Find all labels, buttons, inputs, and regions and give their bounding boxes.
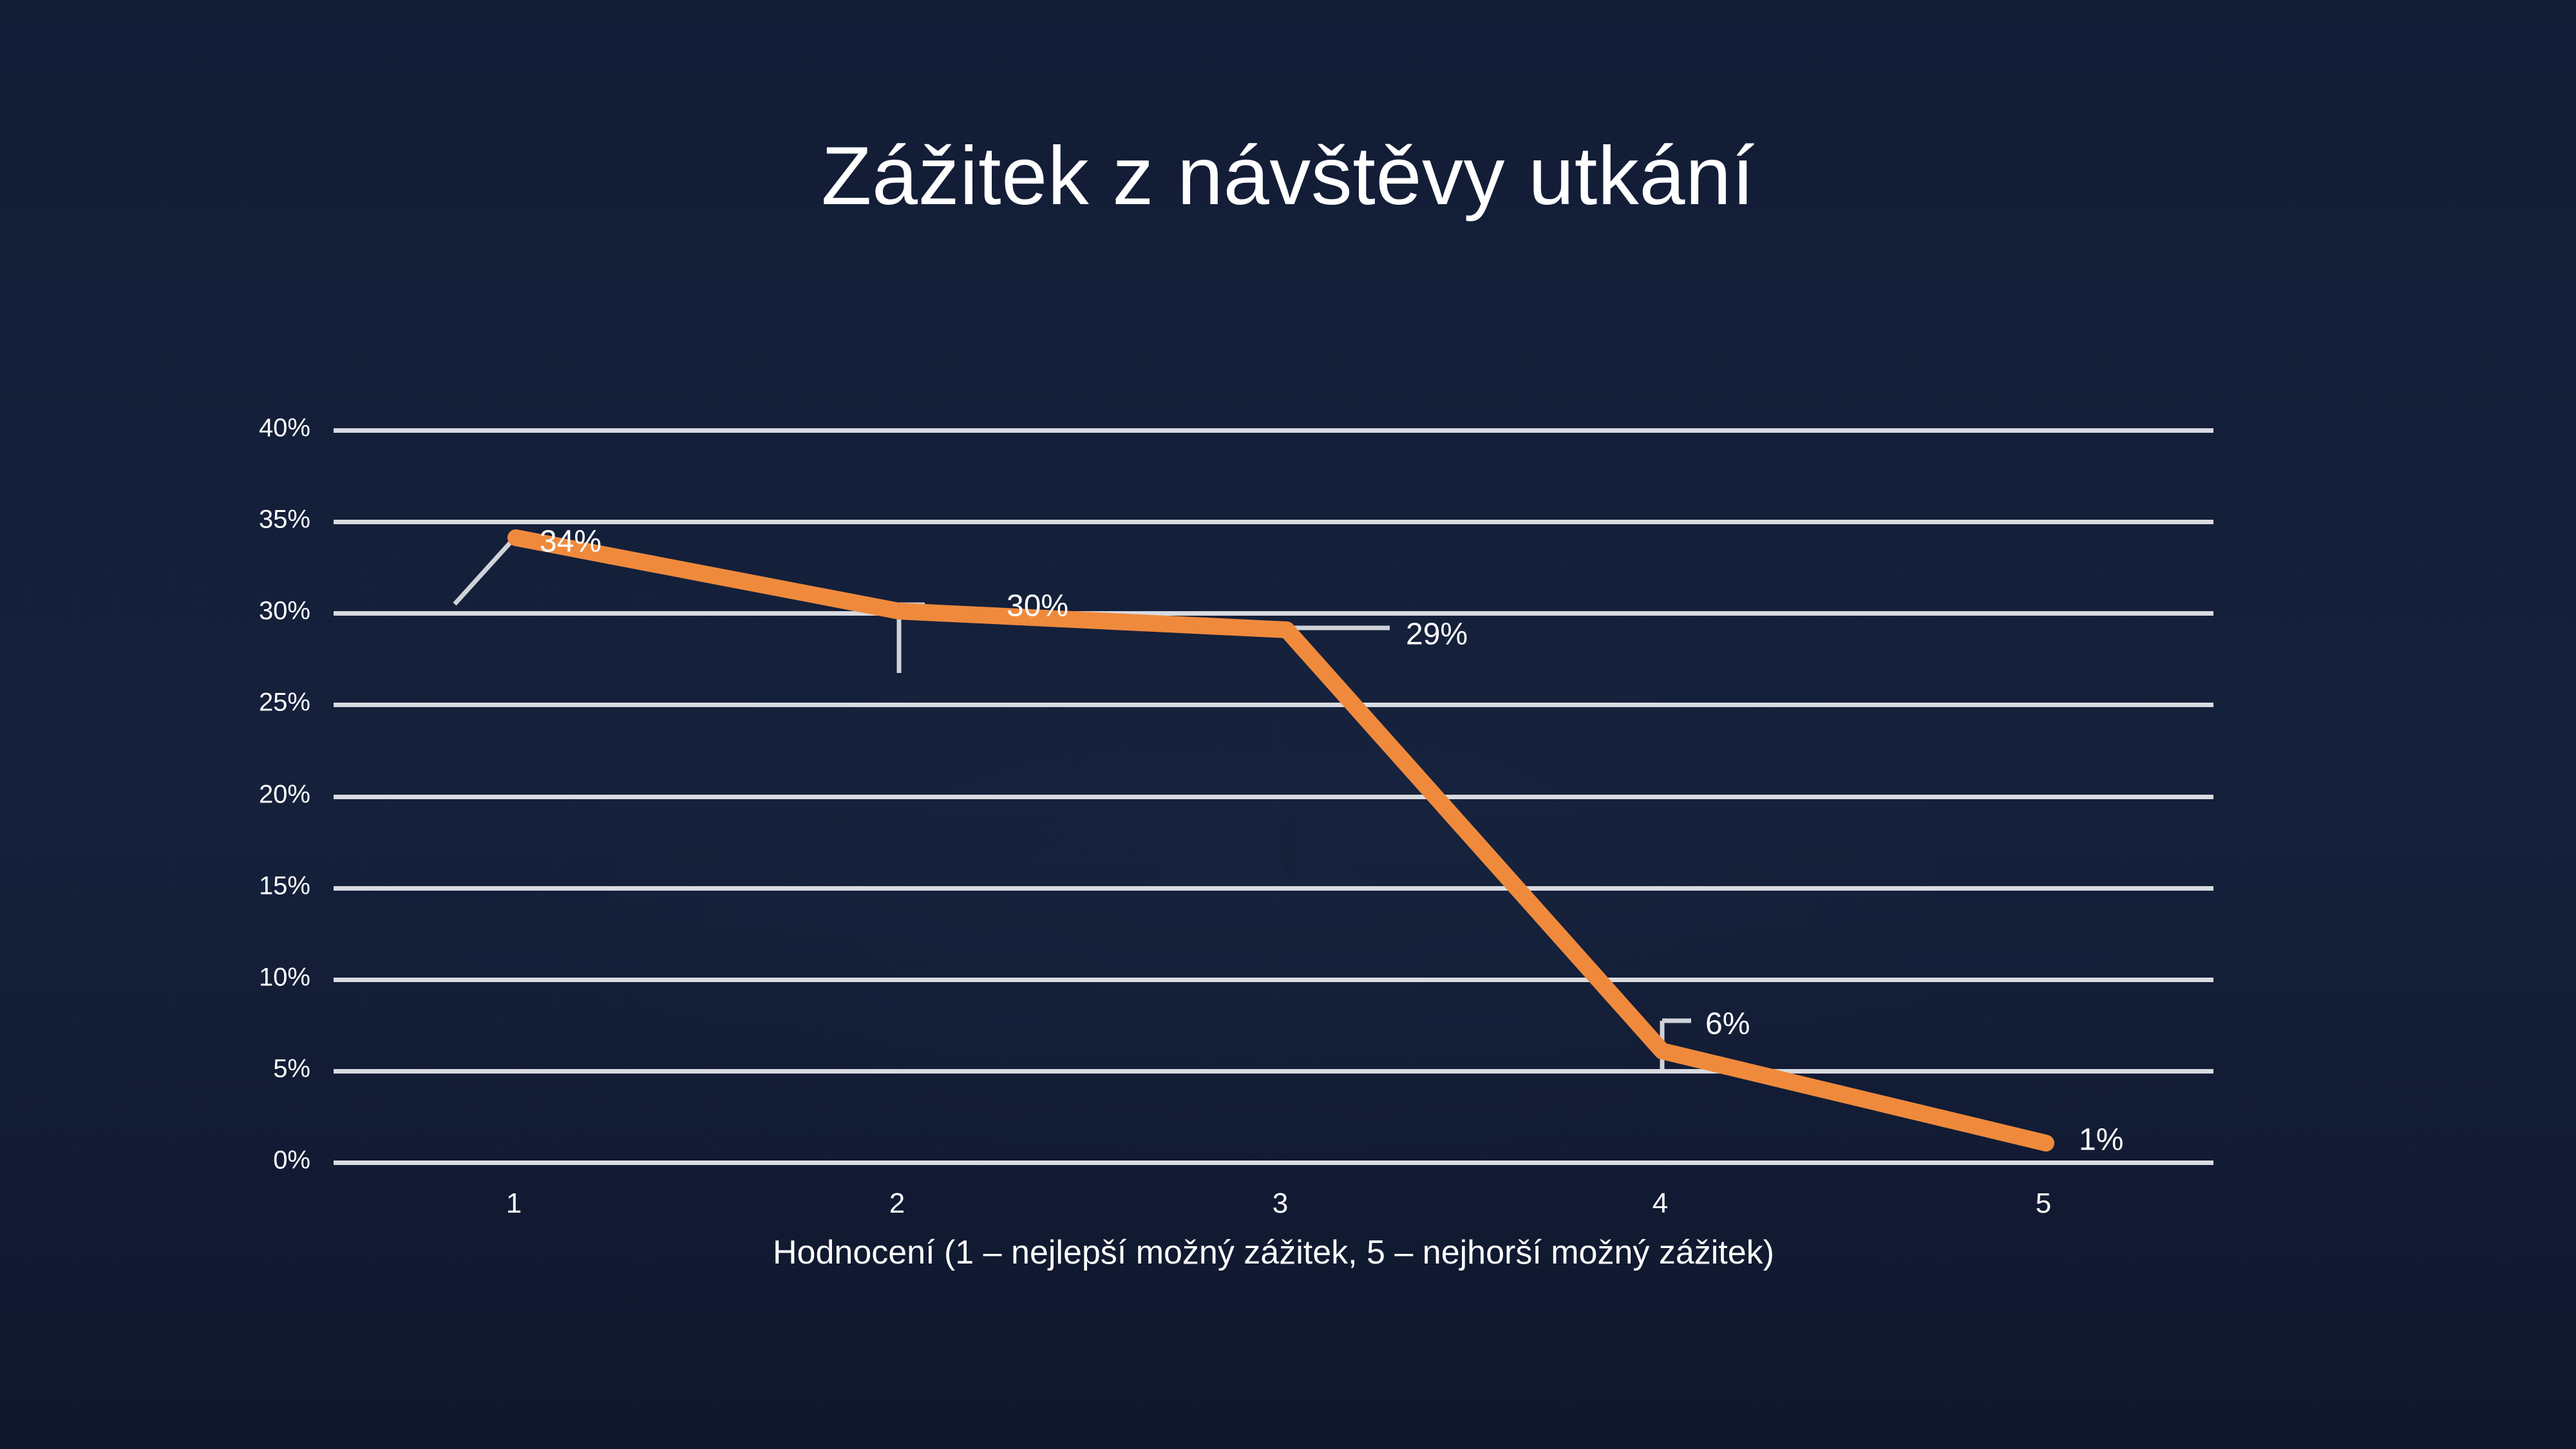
y-axis-tick-10: 10% — [259, 963, 310, 992]
x-axis-tick-4: 4 — [1653, 1160, 1668, 1220]
y-axis-tick-35: 35% — [259, 506, 310, 535]
data-label-2: 30% — [1007, 589, 1068, 624]
page-title: Zážitek z návštěvy utkání — [0, 129, 2576, 223]
y-axis-tick-15: 15% — [259, 871, 310, 900]
y-axis-tick-5: 5% — [273, 1054, 310, 1083]
line-series — [334, 428, 2213, 1160]
data-label-1: 34% — [540, 524, 601, 560]
slide: Zážitek z návštěvy utkání 40% 35% 30% 25… — [0, 0, 2576, 1449]
y-axis-tick-20: 20% — [259, 780, 310, 809]
x-axis-label: Hodnocení (1 – nejlepší možný zážitek, 5… — [334, 1233, 2213, 1272]
y-axis-tick-0: 0% — [273, 1146, 310, 1175]
y-axis-tick-40: 40% — [259, 414, 310, 443]
data-label-4: 6% — [1705, 1007, 1750, 1042]
y-axis-tick-30: 30% — [259, 597, 310, 626]
data-line — [516, 538, 2046, 1143]
data-label-3: 29% — [1406, 617, 1468, 652]
x-axis-tick-2: 2 — [889, 1160, 905, 1220]
plot-area: 40% 35% 30% 25% 20% 15% 10% 5% 0% 1 2 3 … — [334, 428, 2213, 1160]
x-axis-tick-3: 3 — [1273, 1160, 1288, 1220]
x-axis-tick-5: 5 — [2036, 1160, 2051, 1220]
x-axis-tick-1: 1 — [506, 1160, 522, 1220]
data-label-5: 1% — [2079, 1122, 2123, 1158]
y-axis-tick-25: 25% — [259, 688, 310, 717]
